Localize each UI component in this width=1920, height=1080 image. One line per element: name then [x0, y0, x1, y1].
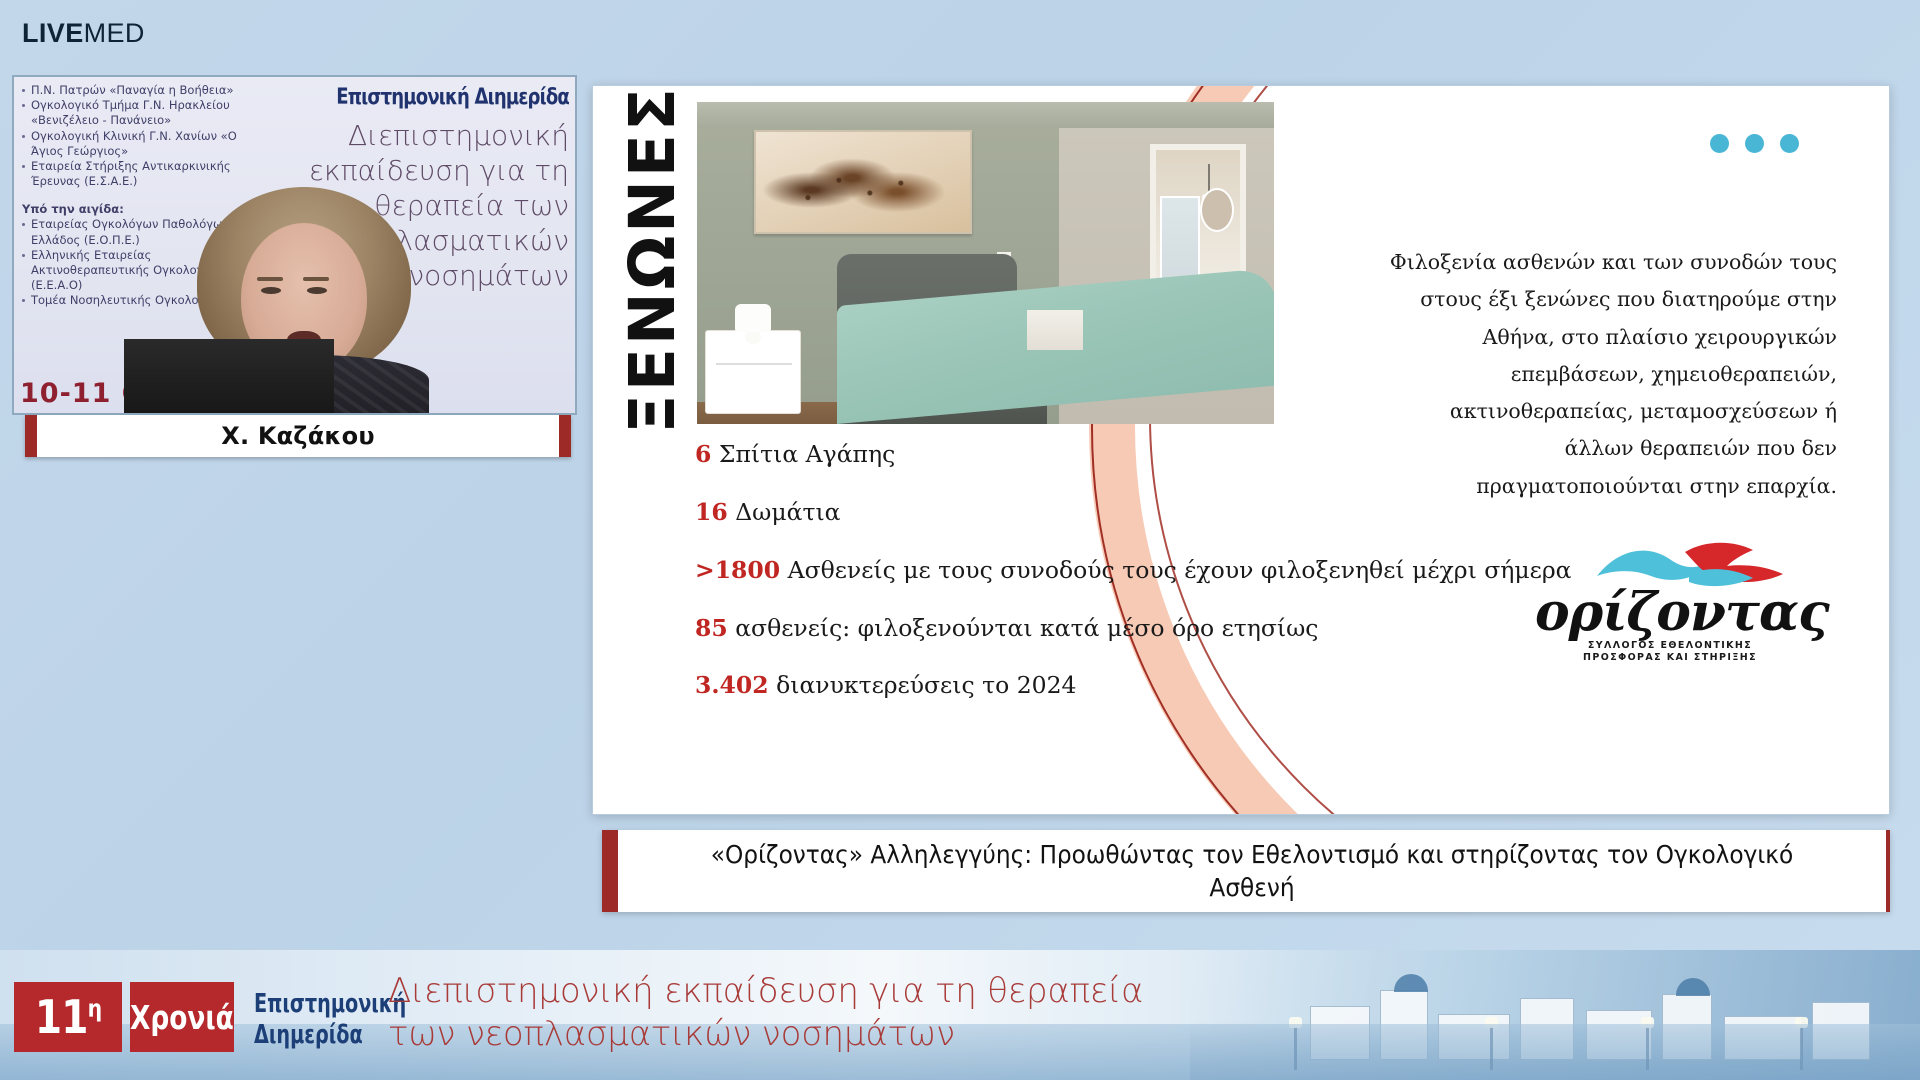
- photo-table-lamp: [735, 304, 771, 332]
- slide-vertical-title-text: ΞΕΝΩΝΕΣ: [616, 85, 689, 433]
- dot-icon: [1780, 134, 1799, 153]
- speaker-name-plate: Χ. Καζάκου: [25, 415, 571, 457]
- list-item: 85 ασθενείς: φιλοξενούνται κατά μέσο όρο…: [695, 616, 1595, 642]
- presentation-slide[interactable]: ΞΕΝΩΝΕΣ 6 Σπίτια Αγάπης: [592, 85, 1890, 815]
- photo-lamp-base: [745, 330, 761, 344]
- stat-number: >1800: [695, 556, 780, 584]
- orizontas-tagline-line1: ΣΥΛΛΟΓΟΣ ΕΘΕΛΟΝΤΙΚΗΣ: [1535, 640, 1805, 651]
- presenter-eye-right: [307, 287, 327, 294]
- slide-title-bar: «Ορίζοντας» Αλληλεγγύης: Προωθώντας τον …: [602, 830, 1890, 912]
- poster-title: Επιστημονική Διημερίδα: [323, 85, 569, 110]
- dot-icon: [1745, 134, 1764, 153]
- stat-number: 3.402: [695, 671, 769, 699]
- photo-white-cube: [1027, 310, 1083, 350]
- presenter-eyebrow-left: [257, 277, 283, 281]
- dot-icon: [1710, 134, 1729, 153]
- stat-label: Σπίτια Αγάπης: [719, 440, 895, 468]
- bottom-conference-banner: 11η Χρονιά Επιστημονική Διημερίδα Διεπισ…: [0, 950, 1920, 1080]
- stat-label: διανυκτερεύσεις το 2024: [776, 671, 1076, 699]
- edition-word-badge: Χρονιά: [130, 982, 234, 1052]
- banner-dome: [1676, 978, 1710, 996]
- brand-light-part: MED: [84, 18, 145, 48]
- edition-number-text: 11η: [35, 990, 101, 1044]
- poster-item: Π.Ν. Πατρών «Παναγία η Βοήθεια»: [22, 83, 272, 98]
- photo-wall-artwork: [754, 130, 972, 234]
- orizontas-tagline-line2: ΠΡΟΣΦΟΡΑΣ ΚΑΙ ΣΤΗΡΙΞΗΣ: [1535, 652, 1805, 663]
- slide-description-paragraph: Φιλοξενία ασθενών και των συνοδών τους σ…: [1377, 244, 1837, 505]
- stat-label: Δωμάτια: [735, 498, 840, 526]
- podium-laptop: [124, 339, 334, 415]
- poster-item: Ογκολογική Κλινική Γ.Ν. Χανίων «Ο Άγιος …: [22, 129, 272, 159]
- conference-name-line1: Επιστημονική: [254, 989, 372, 1021]
- speaker-name-label: Χ. Καζάκου: [221, 422, 374, 450]
- livemed-logo: LIVEMED: [22, 18, 145, 49]
- top-brand-bar: LIVEMED: [0, 0, 1920, 66]
- decorative-dots: [1710, 134, 1799, 153]
- brand-bold-part: LIVE: [22, 18, 84, 48]
- banner-dome: [1394, 974, 1428, 992]
- list-item: 3.402 διανυκτερεύσεις το 2024: [695, 673, 1595, 699]
- conference-name-line2: Διημερίδα: [254, 1020, 372, 1052]
- stat-label: Ασθενείς με τους συνοδούς τους έχουν φιλ…: [788, 556, 1572, 584]
- presenter-eyebrow-right: [303, 277, 329, 281]
- edition-number-badge: 11η: [14, 982, 122, 1052]
- orizontas-logo: ορίζοντας ΣΥΛΛΟΓΟΣ ΕΘΕΛΟΝΤΙΚΗΣ ΠΡΟΣΦΟΡΑΣ…: [1535, 538, 1805, 663]
- stat-number: 16: [695, 498, 728, 526]
- photo-ceiling: [697, 102, 1274, 128]
- stat-label: ασθενείς: φιλοξενούνται κατά μέσο όρο ετ…: [735, 614, 1318, 642]
- speaker-video-panel[interactable]: Π.Ν. Πατρών «Παναγία η Βοήθεια» Ογκολογι…: [12, 75, 577, 415]
- edition-word-text: Χρονιά: [130, 998, 234, 1037]
- photo-round-mirror: [1200, 188, 1234, 232]
- slide-vertical-title: ΞΕΝΩΝΕΣ: [617, 94, 687, 424]
- slide-title-text: «Ορίζοντας» Αλληλεγγύης: Προωθώντας τον …: [696, 838, 1808, 904]
- list-item: >1800 Ασθενείς με τους συνοδούς τους έχο…: [695, 558, 1595, 584]
- banner-title-line1: Διεπιστημονική εκπαίδευση για τη θεραπεί…: [388, 970, 1238, 1013]
- conference-name: Επιστημονική Διημερίδα: [254, 989, 372, 1052]
- poster-item: Εταιρεία Στήριξης Αντικαρκινικής Έρευνας…: [22, 159, 272, 189]
- banner-title-line2: των νεοπλασματικών νοσημάτων: [388, 1013, 1238, 1056]
- stat-number: 6: [695, 440, 711, 468]
- orizontas-wordmark: ορίζοντας: [1535, 587, 1805, 639]
- stat-number: 85: [695, 614, 728, 642]
- banner-title: Διεπιστημονική εκπαίδευση για τη θεραπεί…: [388, 970, 1238, 1056]
- hostel-bedroom-photo: [697, 102, 1274, 424]
- poster-item: Ογκολογικό Τμήμα Γ.Ν. Ηρακλείου «Βενιζέλ…: [22, 98, 272, 128]
- presenter-eye-left: [261, 287, 281, 294]
